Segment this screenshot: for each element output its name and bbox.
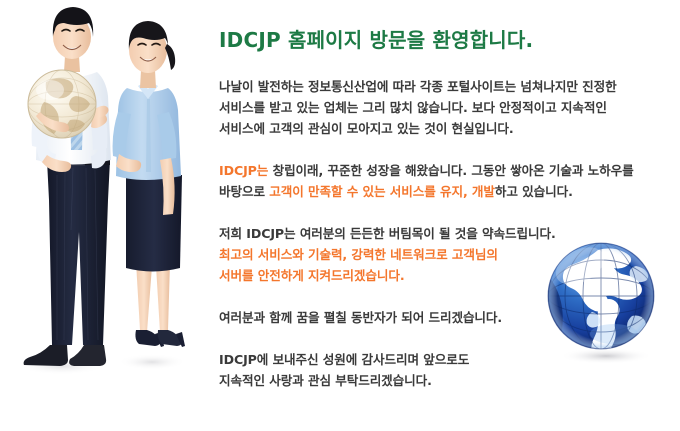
body-text: 서비스에 고객의 관심이 모아지고 있는 것이 현실입니다. (219, 121, 514, 136)
body-text: 저희 IDCJP는 여러분의 든든한 버팀목이 될 것을 약속드립니다. (219, 226, 556, 241)
page-root: IDCJP 홈페이지 방문을 환영합니다. 나날이 발전하는 정보통신산업에 따… (0, 0, 680, 431)
text-line: 서비스에 고객의 관심이 모아지고 있는 것이 현실입니다. (219, 118, 671, 139)
body-text: 바탕으로 (219, 184, 269, 199)
highlighted-text: 최고의 서비스와 기술력, 강력한 네트워크로 고객님의 (219, 247, 498, 262)
text-line: 바탕으로 고객이 만족할 수 있는 서비스를 유지, 개발하고 있습니다. (219, 181, 671, 202)
body-text: 서비스를 받고 있는 업체는 그리 많치 않습니다. 보다 안정적이고 지속적인 (219, 100, 607, 115)
body-text: 지속적인 사랑과 관심 부탁드리겠습니다. (219, 373, 432, 388)
page-title: IDCJP 홈페이지 방문을 환영합니다. (219, 26, 671, 54)
blue-globe-graphic (540, 238, 668, 368)
text-line: 나날이 발전하는 정보통신산업에 따라 각종 포털사이트는 넘쳐나지만 진정한 (219, 76, 671, 97)
highlighted-text: IDCJP는 (219, 163, 268, 178)
paragraph-growth: IDCJP는 창립이래, 꾸준한 성장을 해왔습니다. 그동안 쌓아온 기술과 … (219, 160, 671, 202)
body-text: 여러분과 함께 꿈을 펼칠 동반자가 되어 드리겠습니다. (219, 310, 502, 325)
body-text: IDCJP에 보내주신 성원에 감사드리며 앞으로도 (219, 352, 469, 367)
body-text: 창립이래, 꾸준한 성장을 해왔습니다. 그동안 쌓아온 기술과 노하우를 (268, 163, 633, 178)
body-text: 나날이 발전하는 정보통신산업에 따라 각종 포털사이트는 넘쳐나지만 진정한 (219, 79, 617, 94)
text-line: IDCJP는 창립이래, 꾸준한 성장을 해왔습니다. 그동안 쌓아온 기술과 … (219, 160, 671, 181)
text-line: 지속적인 사랑과 관심 부탁드리겠습니다. (219, 370, 671, 391)
highlighted-text: 고객이 만족할 수 있는 서비스를 유지, 개발 (269, 184, 495, 199)
body-text: 하고 있습니다. (495, 184, 573, 199)
text-line: 서비스를 받고 있는 업체는 그리 많치 않습니다. 보다 안정적이고 지속적인 (219, 97, 671, 118)
paragraph-intro: 나날이 발전하는 정보통신산업에 따라 각종 포털사이트는 넘쳐나지만 진정한서… (219, 76, 671, 139)
business-people-photo (0, 0, 215, 400)
highlighted-text: 서버를 안전하게 지켜드리겠습니다. (219, 268, 405, 283)
